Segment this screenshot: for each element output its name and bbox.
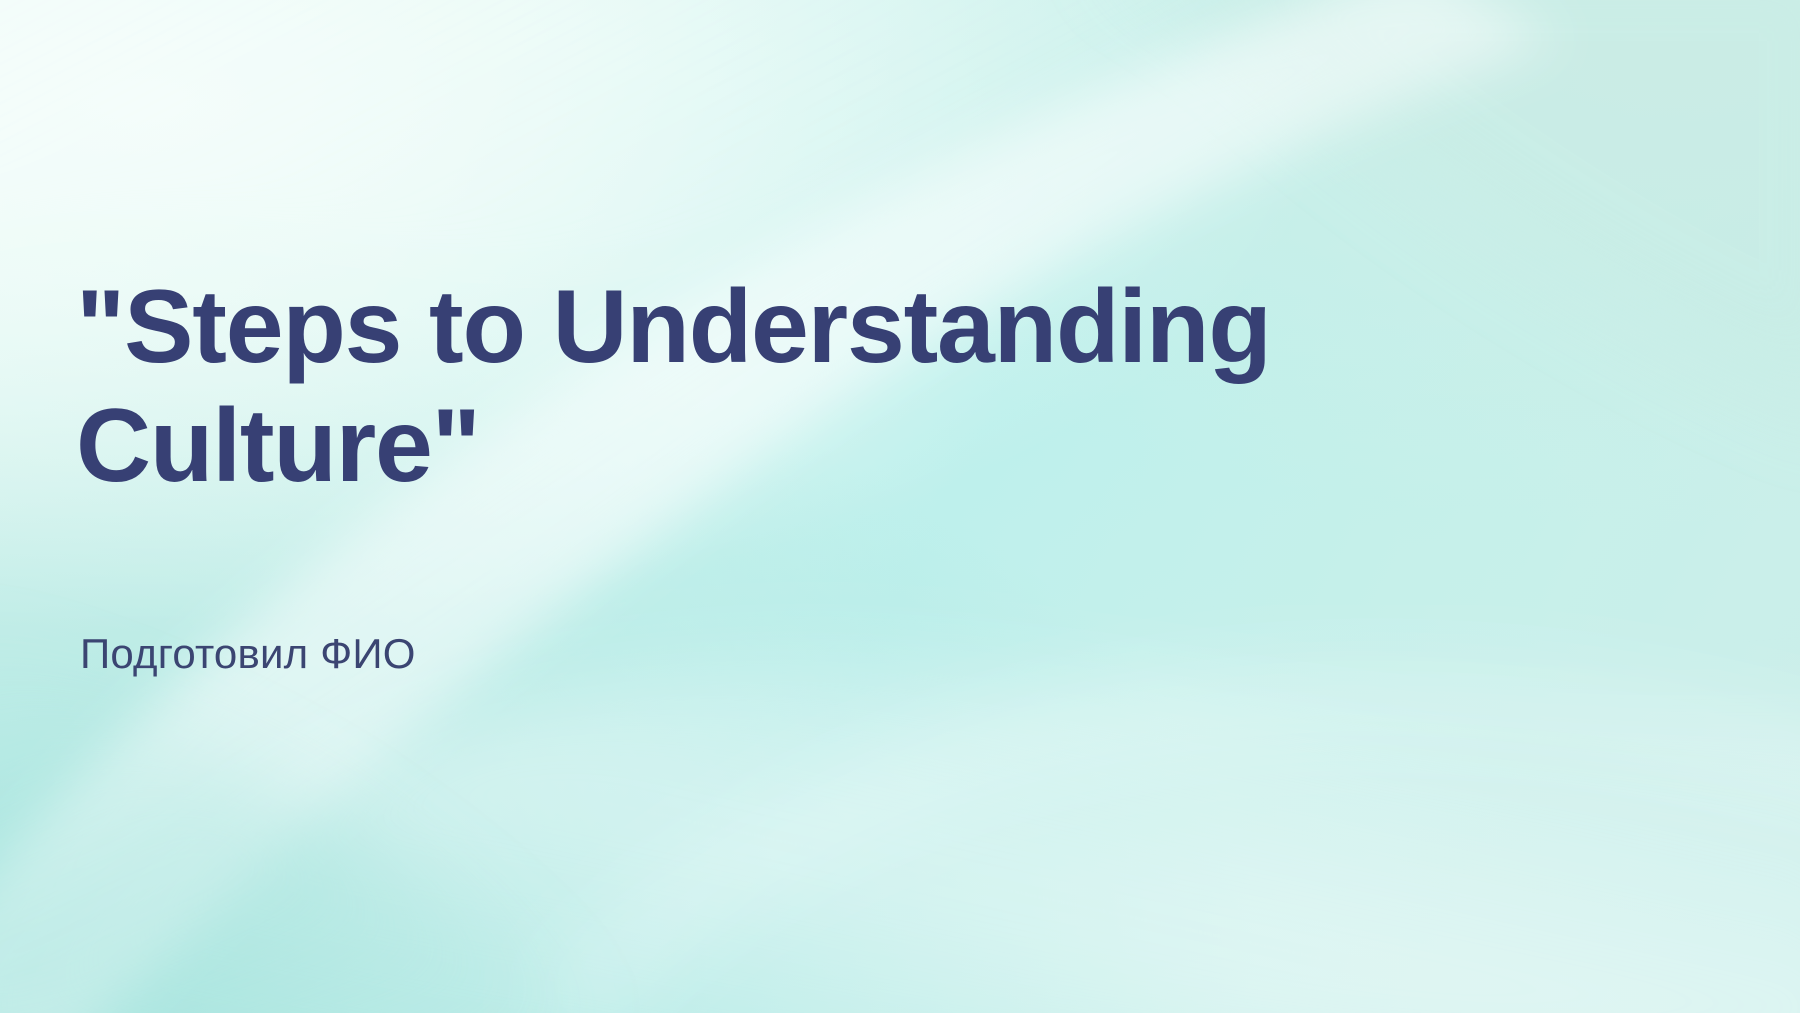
title-slide: "Steps to Understanding Culture" Подгото… (0, 0, 1800, 1013)
slide-subtitle-author: Подготовил ФИО (80, 628, 416, 681)
slide-content: "Steps to Understanding Culture" Подгото… (76, 0, 1476, 1013)
page-title: "Steps to Understanding Culture" (76, 268, 1476, 505)
